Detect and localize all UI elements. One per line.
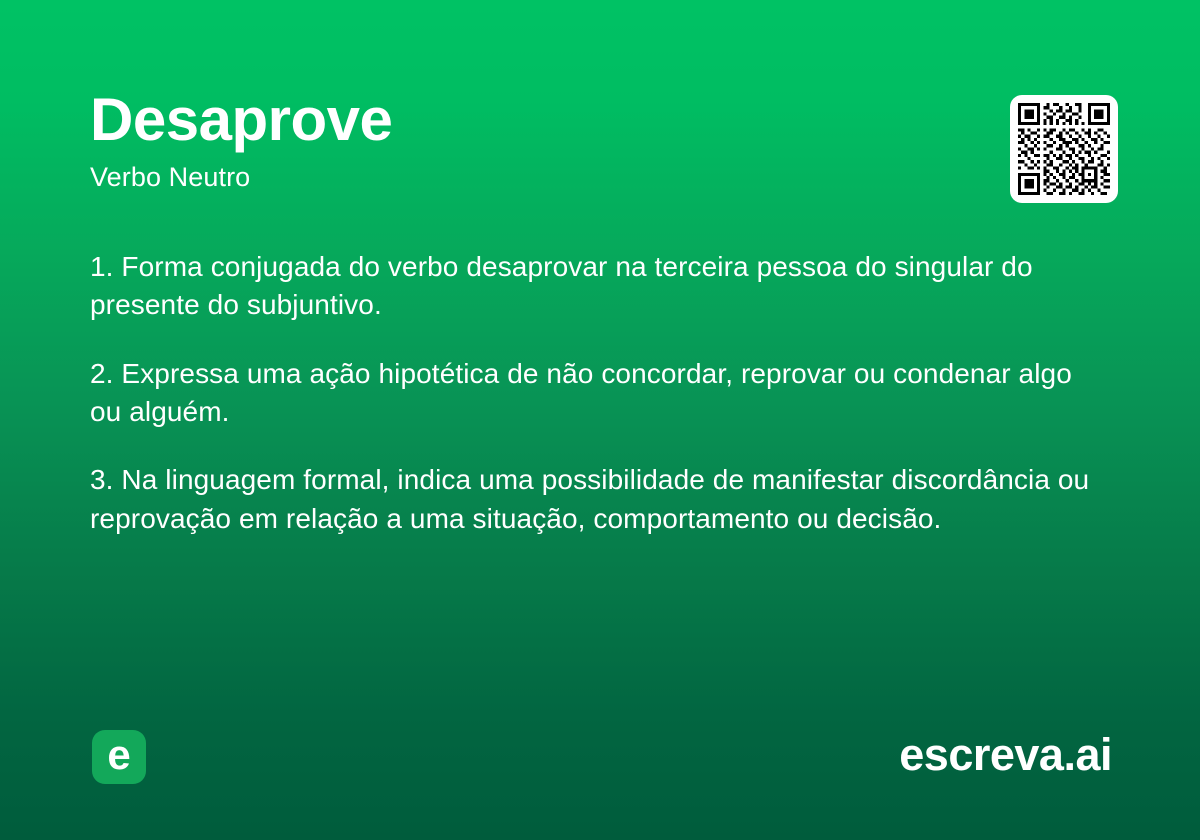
word-class-label: Verbo Neutro [90,161,1110,193]
definition-item: 3. Na linguagem formal, indica uma possi… [90,461,1100,538]
card-footer: e escreva.ai [0,710,1200,840]
dictionary-card: Desaprove Verbo Neutro [0,0,1200,840]
definition-item: 1. Forma conjugada do verbo desaprovar n… [90,248,1100,325]
brand-wordmark: escreva.ai [899,728,1112,782]
card-header: Desaprove Verbo Neutro [90,88,1110,193]
page-title: Desaprove [90,88,1110,151]
definition-list: 1. Forma conjugada do verbo desaprovar n… [90,248,1100,538]
definition-item: 2. Expressa uma ação hipotética de não c… [90,355,1100,432]
escreva-logo-icon: e [92,730,146,784]
qr-code-icon[interactable] [1010,95,1118,203]
logo-letter: e [107,734,130,776]
